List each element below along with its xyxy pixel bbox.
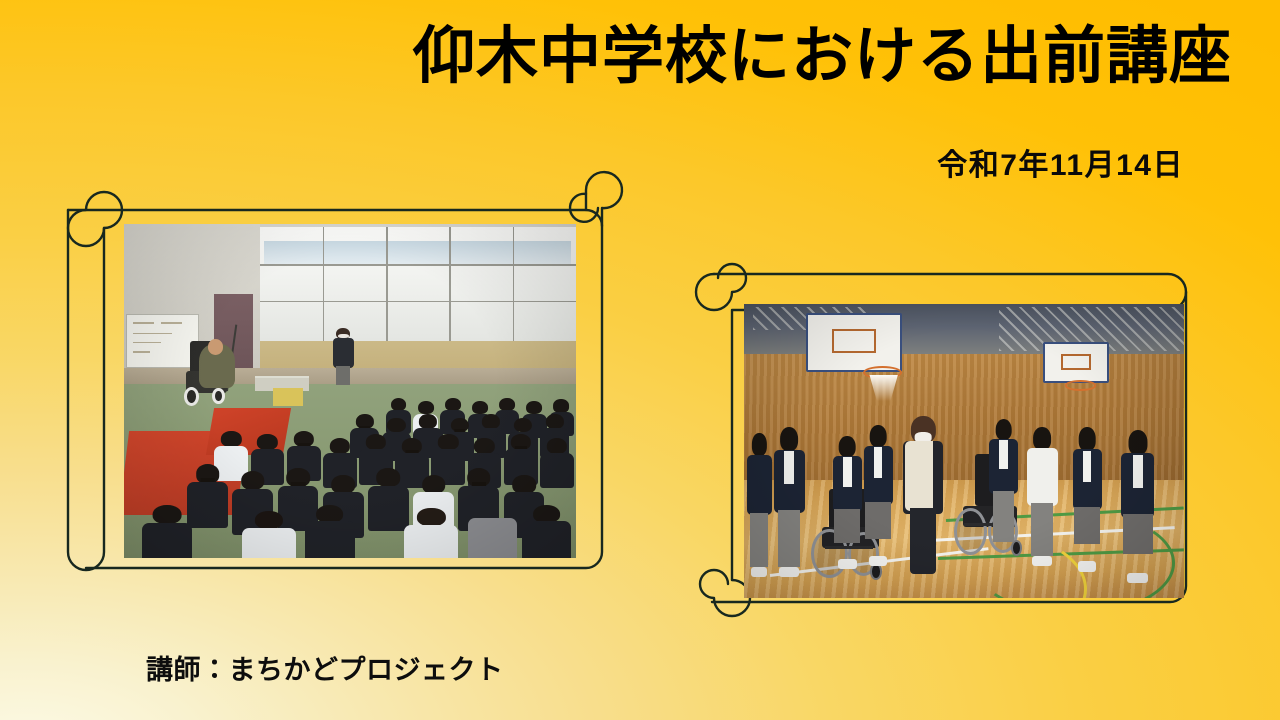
standing-student bbox=[1072, 427, 1103, 571]
standing-student bbox=[773, 427, 806, 577]
standing-student bbox=[988, 419, 1019, 551]
frame-left-curl-topright bbox=[586, 172, 622, 226]
frame-right-curl-topleft bbox=[696, 264, 746, 310]
standing-student bbox=[863, 425, 894, 566]
window-mullion bbox=[260, 301, 576, 303]
seated-student bbox=[187, 464, 228, 527]
frame-left-curl-topright-inner bbox=[570, 194, 598, 222]
basketball-backboard bbox=[1043, 342, 1109, 383]
presenter-label: 講師：まちかどプロジェクト bbox=[146, 648, 504, 687]
standing-teacher bbox=[1026, 427, 1059, 565]
window-sky bbox=[264, 241, 571, 264]
window-mullion bbox=[323, 227, 325, 341]
instructor bbox=[902, 416, 944, 575]
standing-student bbox=[1120, 430, 1155, 583]
yellow-box bbox=[273, 388, 302, 406]
standing-student bbox=[832, 436, 863, 568]
frame-right-curl-bottomleft bbox=[700, 570, 750, 616]
lecturer-head bbox=[208, 339, 223, 354]
basketball-backboard bbox=[806, 313, 903, 372]
window-mullion bbox=[513, 227, 515, 341]
photo-lecture-seated-students bbox=[124, 224, 576, 558]
seated-student bbox=[522, 505, 572, 558]
slide-canvas: 仰木中学校における出前講座 令和7年11月14日 講師：まちかどプロジェクト bbox=[0, 0, 1280, 720]
seated-student bbox=[468, 518, 518, 558]
window-mullion bbox=[386, 227, 388, 341]
frame-left-roll bbox=[68, 210, 104, 570]
window-mullion bbox=[260, 264, 576, 266]
seated-student bbox=[142, 505, 192, 558]
seated-student bbox=[540, 438, 574, 488]
seated-student bbox=[368, 468, 409, 531]
basketball-hoop bbox=[1065, 380, 1096, 390]
seated-student bbox=[242, 511, 296, 558]
standing-staff-member bbox=[332, 328, 355, 385]
standing-student bbox=[746, 433, 772, 577]
page-title: 仰木中学校における出前講座 bbox=[413, 24, 1232, 91]
seated-student bbox=[305, 505, 355, 558]
window-mullion bbox=[449, 227, 451, 341]
event-date: 令和7年11月14日 bbox=[937, 140, 1184, 184]
seated-student bbox=[404, 508, 458, 558]
frame-left-curl-topleft bbox=[68, 192, 122, 246]
photo-wheelchair-demonstration bbox=[744, 304, 1184, 598]
